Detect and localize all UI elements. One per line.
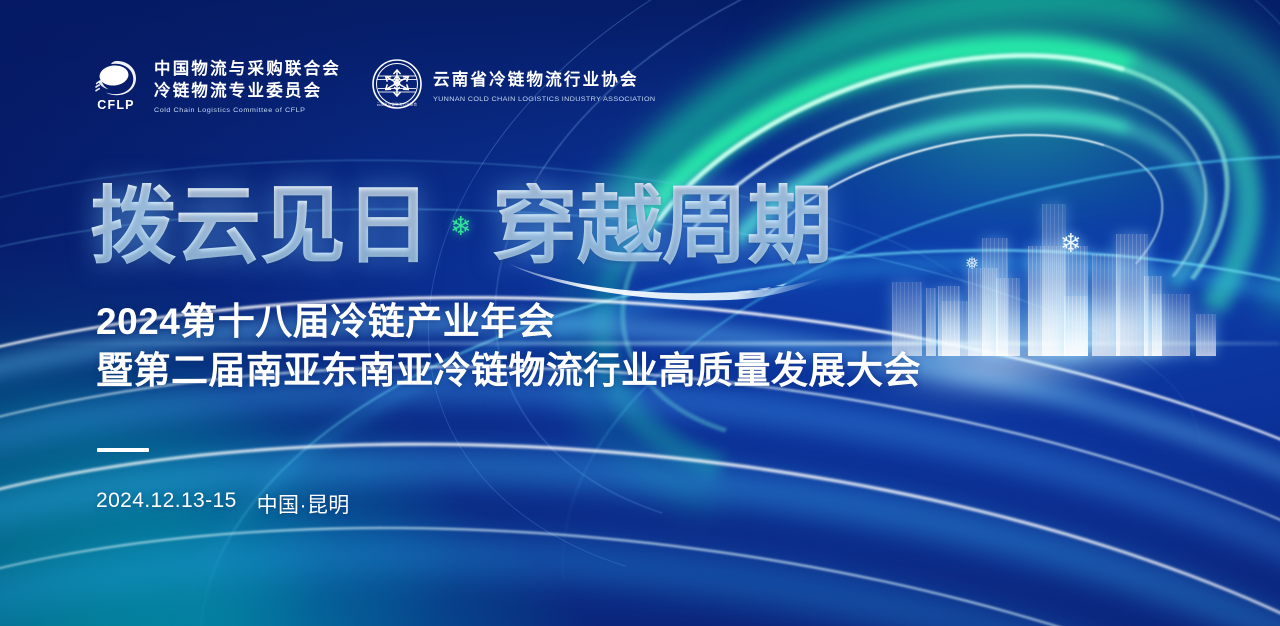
city-snowflake-small-icon: ❅ bbox=[965, 254, 979, 274]
subtitle-line-1: 2024第十八届冷链产业年会 bbox=[96, 297, 921, 346]
cflp-name-cn-line2: 冷链物流专业委员会 bbox=[154, 81, 341, 102]
snowflake-icon: ❄ bbox=[450, 211, 472, 242]
yunnan-org-text: 云南省冷链物流行业协会 YUNNAN COLD CHAIN LOGISTICS … bbox=[433, 70, 655, 103]
yunnan-name-cn: 云南省冷链物流行业协会 bbox=[433, 70, 655, 91]
cflp-org-text: 中国物流与采购联合会 冷链物流专业委员会 Cold Chain Logistic… bbox=[154, 59, 341, 113]
event-location: 中国·昆明 bbox=[257, 489, 350, 519]
city-building bbox=[942, 301, 968, 356]
cflp-name-en: Cold Chain Logistics Committee of CFLP bbox=[154, 105, 341, 114]
city-building bbox=[926, 288, 936, 356]
headline: 拨云见日 ❄ 穿越周期 bbox=[90, 168, 832, 284]
subtitle-line-2: 暨第二届南亚东南亚冷链物流行业高质量发展大会 bbox=[96, 346, 921, 395]
city-building bbox=[1042, 204, 1066, 356]
logo-cflp[interactable]: CFLP 中国物流与采购联合会 冷链物流专业委员会 Cold Chain Log… bbox=[88, 56, 341, 117]
city-building bbox=[1064, 296, 1088, 356]
svg-text:云南省冷链物流行业协会: 云南省冷链物流行业协会 bbox=[377, 102, 418, 107]
svg-text:CFLP: CFLP bbox=[97, 98, 134, 112]
headline-part-2: 穿越周期 bbox=[492, 183, 832, 269]
cflp-globe-logo-icon: CFLP bbox=[88, 56, 144, 117]
city-skyline: ❄ ❅ bbox=[880, 196, 1280, 356]
city-building bbox=[1152, 294, 1190, 356]
logo-lockup: CFLP 中国物流与采购联合会 冷链物流专业委员会 Cold Chain Log… bbox=[88, 56, 655, 117]
dateline: 2024.12.13-15 中国·昆明 bbox=[96, 489, 350, 519]
city-snowflake-large-icon: ❄ bbox=[1060, 228, 1082, 259]
conference-poster: ❄ ❅ CFLP 中国物流与采购联合会 冷链物流专业委员会 Col bbox=[0, 0, 1280, 626]
divider-rule bbox=[97, 448, 149, 452]
cflp-name-cn-line1: 中国物流与采购联合会 bbox=[154, 59, 341, 80]
subtitle-block: 2024第十八届冷链产业年会 暨第二届南亚东南亚冷链物流行业高质量发展大会 bbox=[96, 297, 921, 395]
headline-part-1: 拨云见日 bbox=[90, 183, 430, 269]
yunnan-snowflake-seal-logo-icon: 云南省冷链物流行业协会 bbox=[371, 58, 423, 115]
city-building bbox=[1196, 314, 1216, 356]
city-building bbox=[996, 278, 1020, 356]
yunnan-name-en: YUNNAN COLD CHAIN LOGISTICS INDUSTRY ASS… bbox=[433, 94, 655, 103]
event-dates: 2024.12.13-15 bbox=[96, 489, 237, 519]
logo-yunnan[interactable]: 云南省冷链物流行业协会 云南省冷链物流行业协会 YUNNAN COLD CHAI… bbox=[371, 58, 655, 115]
